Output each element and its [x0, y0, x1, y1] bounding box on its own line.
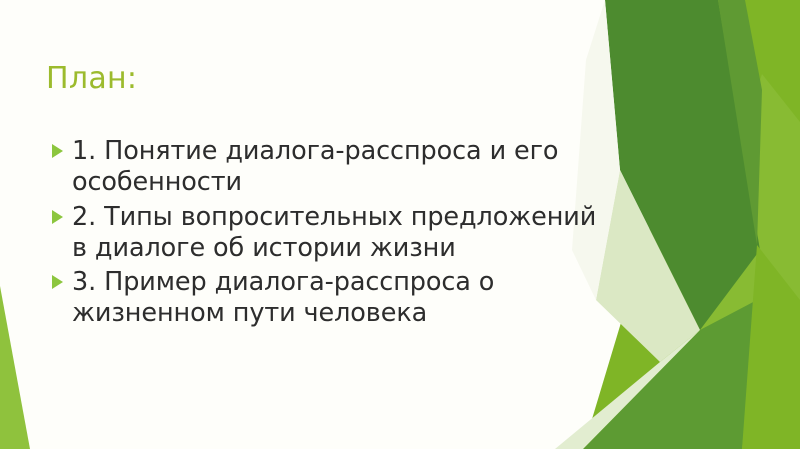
list-item: 2. Типы вопросительных предложений в диа…	[52, 202, 597, 264]
triangle-bullet-icon	[52, 275, 63, 289]
list-item-label: 2. Типы вопросительных предложений в диа…	[72, 202, 597, 264]
decor-shape-light-wedge	[640, 74, 800, 449]
page-title: План:	[46, 62, 137, 97]
list-item-label: 3. Пример диалога-расспроса о жизненном …	[72, 267, 597, 329]
list-item: 1. Понятие диалога-расспроса и его особе…	[52, 136, 597, 198]
triangle-bullet-icon	[52, 144, 63, 158]
decor-shape-bright-lower	[742, 245, 800, 449]
slide-content: План: 1. Понятие диалога-расспроса и его…	[0, 0, 620, 449]
decor-shape-dark-band	[605, 0, 760, 330]
list-item: 3. Пример диалога-расспроса о жизненном …	[52, 267, 597, 329]
slide-canvas: План: 1. Понятие диалога-расспроса и его…	[0, 0, 800, 449]
plan-list: 1. Понятие диалога-расспроса и его особе…	[52, 136, 597, 333]
triangle-bullet-icon	[52, 210, 63, 224]
decor-shape-mid-triangle	[718, 0, 762, 245]
list-item-label: 1. Понятие диалога-расспроса и его особе…	[72, 136, 597, 198]
